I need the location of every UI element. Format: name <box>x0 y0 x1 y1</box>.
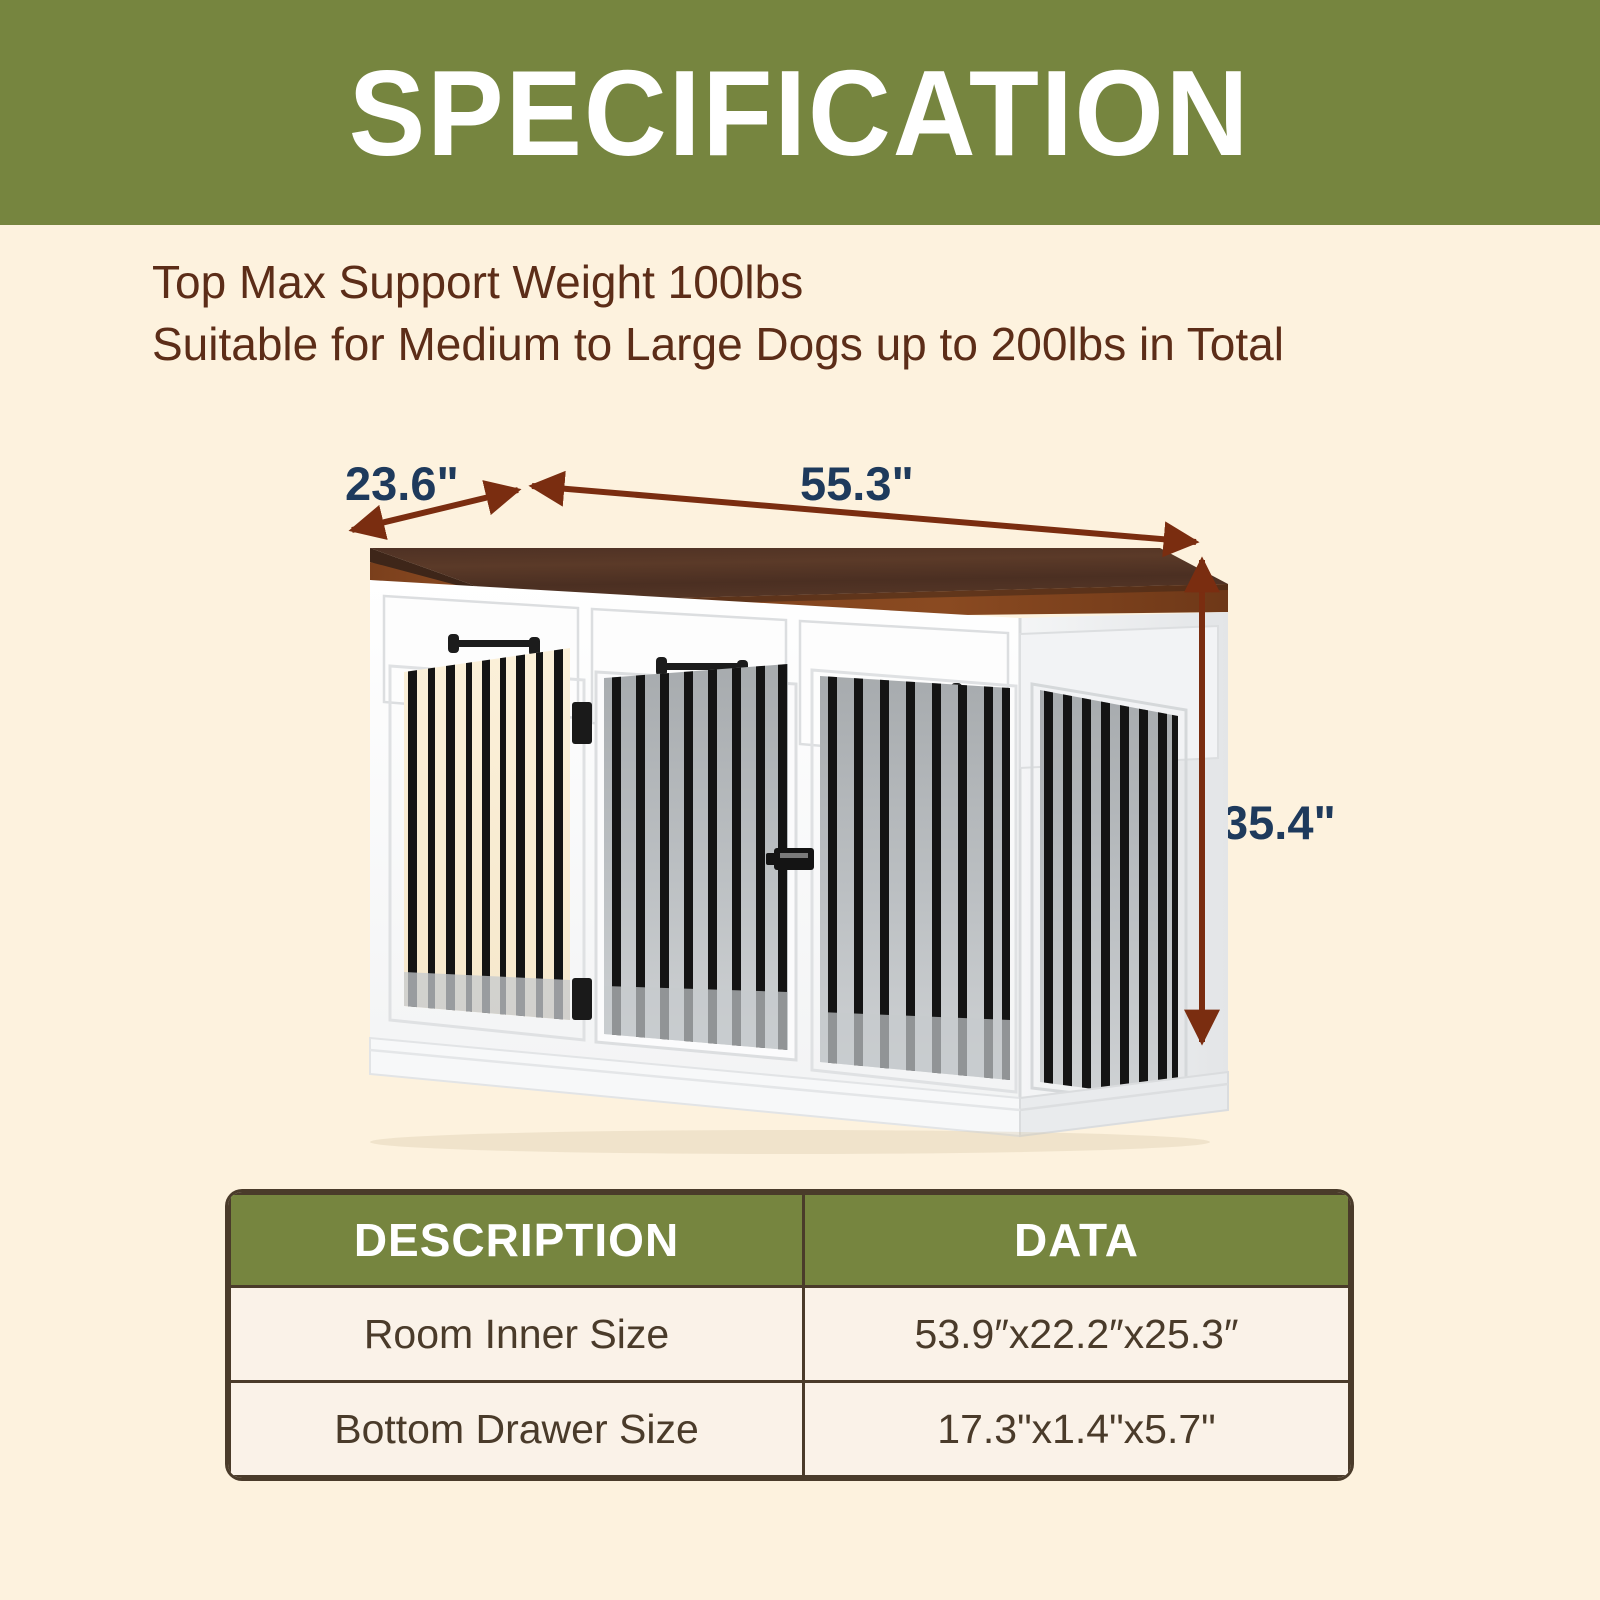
column-header-description: DESCRIPTION <box>230 1194 804 1287</box>
column-header-data: DATA <box>804 1194 1350 1287</box>
table-row: Room Inner Size 53.9″x22.2″x25.3″ <box>230 1287 1350 1382</box>
intro-line-1: Top Max Support Weight 100lbs <box>152 252 1284 314</box>
intro-line-2: Suitable for Medium to Large Dogs up to … <box>152 314 1284 376</box>
header-band: SPECIFICATION <box>0 0 1600 225</box>
cell-data: 17.3"x1.4"x5.7" <box>804 1382 1350 1477</box>
page-title: SPECIFICATION <box>349 52 1251 174</box>
dimension-arrows-svg <box>0 420 1600 1160</box>
table-header-row: DESCRIPTION DATA <box>230 1194 1350 1287</box>
width-arrow <box>532 486 1196 542</box>
table-row: Bottom Drawer Size 17.3"x1.4"x5.7" <box>230 1382 1350 1477</box>
intro-text-block: Top Max Support Weight 100lbs Suitable f… <box>152 252 1284 375</box>
depth-arrow <box>352 490 518 530</box>
cell-description: Room Inner Size <box>230 1287 804 1382</box>
cell-description: Bottom Drawer Size <box>230 1382 804 1477</box>
cell-data: 53.9″x22.2″x25.3″ <box>804 1287 1350 1382</box>
product-illustration: 23.6" 55.3" 35.4" <box>0 420 1600 1160</box>
specification-table: DESCRIPTION DATA Room Inner Size 53.9″x2… <box>228 1192 1351 1478</box>
